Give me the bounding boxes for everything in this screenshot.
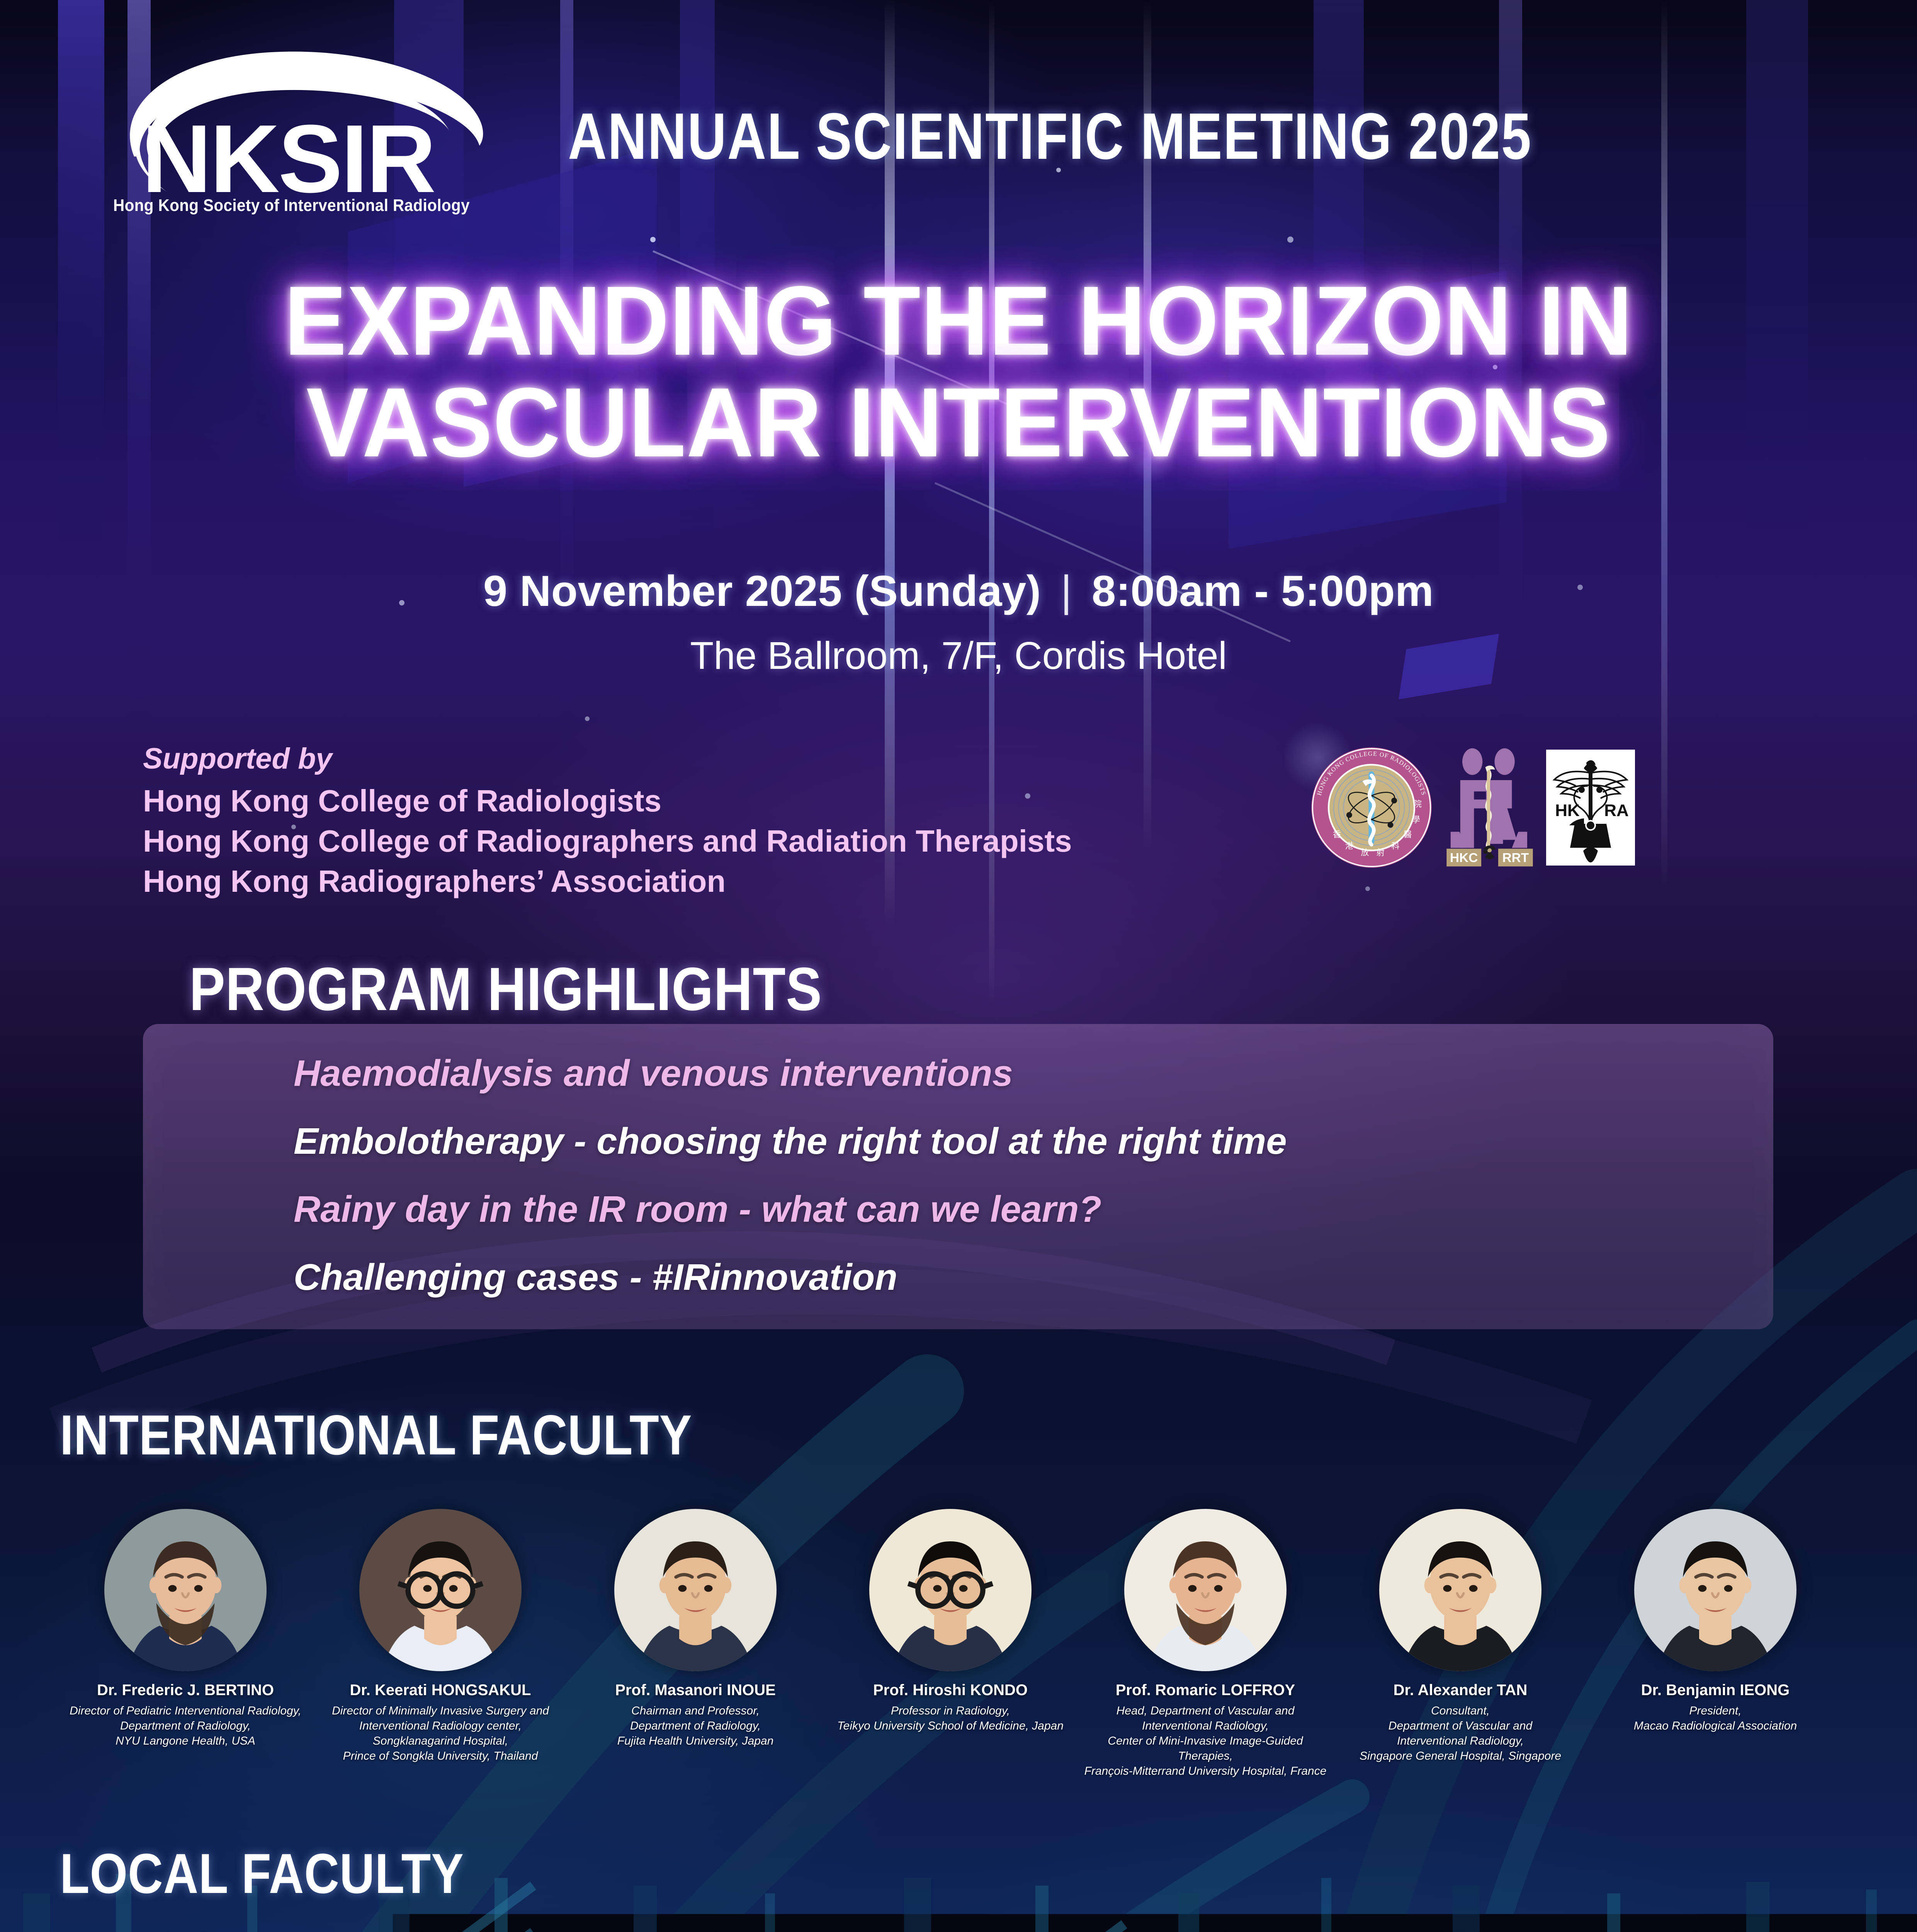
faculty-card: Dr. Benjamin IEONGPresident,Macao Radiol… — [1588, 1509, 1843, 1779]
faculty-card: Prof. Hiroshi KONDOProfessor in Radiolog… — [823, 1509, 1078, 1779]
svg-text:RA: RA — [1604, 801, 1629, 820]
faculty-card: Prof. Romaric LOFFROYHead, Department of… — [1078, 1509, 1333, 1779]
program-highlight-item: Challenging cases - #IRinnovation — [294, 1259, 1800, 1296]
faculty-affiliation-line: François-Mitterrand University Hospital,… — [1082, 1764, 1329, 1779]
faculty-name: Dr. Alexander TAN — [1394, 1682, 1528, 1699]
poster-header: NKSIR Hong Kong Society of Interventiona… — [0, 0, 1917, 247]
svg-text:院: 院 — [1414, 799, 1422, 809]
event-datetime: 9 November 2025 (Sunday) | 8:00am - 5:00… — [0, 566, 1917, 616]
datetime-separator: | — [1053, 566, 1079, 616]
faculty-affiliation-line: Interventional Radiology, — [1337, 1733, 1584, 1748]
faculty-card: Prof. Masanori INOUEChairman and Profess… — [568, 1509, 823, 1779]
faculty-affiliation-line: Singapore General Hospital, Singapore — [1337, 1748, 1584, 1764]
conference-poster: NKSIR Hong Kong Society of Interventiona… — [0, 0, 1917, 1932]
supporter-org-3: Hong Kong Radiographers’ Association — [143, 861, 1072, 901]
meeting-title: ANNUAL SCIENTIFIC MEETING 2025 — [568, 99, 1532, 174]
faculty-affiliation-line: Department of Vascular and — [1337, 1718, 1584, 1733]
supported-by-block: Supported by Hong Kong College of Radiol… — [143, 742, 1072, 901]
faculty-portrait — [1379, 1509, 1541, 1671]
faculty-portrait — [104, 1509, 267, 1671]
faculty-name: Prof. Masanori INOUE — [615, 1682, 776, 1699]
faculty-affiliation-line: Center of Mini-Invasive Image-Guided The… — [1082, 1733, 1329, 1764]
supporter-logos: HONG KONG COLLEGE OF RADIOLOGISTS 香 港 放 … — [1310, 746, 1635, 869]
program-highlights-list: Haemodialysis and venous interventions E… — [294, 1055, 1800, 1327]
faculty-affiliation-line: Director of Minimally Invasive Surgery a… — [317, 1703, 564, 1718]
svg-text:學: 學 — [1412, 815, 1420, 825]
faculty-name: Dr. Keerati HONGSAKUL — [350, 1682, 531, 1699]
faculty-affiliation-line: Head, Department of Vascular and — [1082, 1703, 1329, 1718]
faculty-affiliation-line: Consultant, — [1337, 1703, 1584, 1718]
svg-text:HK: HK — [1555, 801, 1580, 820]
faculty-affiliation: Consultant,Department of Vascular andInt… — [1337, 1703, 1584, 1764]
title-line-2: VASCULAR INTERVENTIONS — [48, 372, 1869, 474]
title-line-1: EXPANDING THE HORIZON IN — [48, 270, 1869, 372]
faculty-portrait — [359, 1509, 522, 1671]
hkcr-seal-logo: HONG KONG COLLEGE OF RADIOLOGISTS 香 港 放 … — [1310, 746, 1433, 869]
event-date: 9 November 2025 (Sunday) — [483, 567, 1041, 615]
faculty-affiliation-line: Interventional Radiology, — [1082, 1718, 1329, 1733]
faculty-affiliation: Chairman and Professor,Department of Rad… — [572, 1703, 819, 1748]
faculty-affiliation: Professor in Radiology,Teikyo University… — [827, 1703, 1074, 1733]
faculty-affiliation: Head, Department of Vascular andInterven… — [1082, 1703, 1329, 1779]
faculty-affiliation: Director of Minimally Invasive Surgery a… — [317, 1703, 564, 1764]
faculty-portrait — [614, 1509, 777, 1671]
faculty-card: Dr. Alexander TANConsultant,Department o… — [1333, 1509, 1588, 1779]
svg-text:射: 射 — [1377, 848, 1385, 858]
international-faculty-row: Dr. Frederic J. BERTINODirector of Pedia… — [58, 1509, 1874, 1779]
program-highlight-item: Embolotherapy - choosing the right tool … — [294, 1123, 1800, 1160]
faculty-affiliation-line: Chairman and Professor, — [572, 1703, 819, 1718]
faculty-name: Prof. Hiroshi KONDO — [873, 1682, 1028, 1699]
event-venue: The Ballroom, 7/F, Cordis Hotel — [0, 634, 1917, 678]
faculty-portrait — [869, 1509, 1032, 1671]
svg-text:放: 放 — [1361, 848, 1369, 858]
faculty-affiliation: Director of Pediatric Interventional Rad… — [62, 1703, 309, 1748]
faculty-affiliation-line: President, — [1592, 1703, 1839, 1718]
faculty-affiliation-line: Department of Radiology, — [572, 1718, 819, 1733]
faculty-portrait — [1124, 1509, 1286, 1671]
supported-by-label: Supported by — [143, 742, 1072, 776]
svg-text:醫: 醫 — [1404, 830, 1412, 840]
faculty-affiliation-line: Teikyo University School of Medicine, Ja… — [827, 1718, 1074, 1733]
supporter-org-1: Hong Kong College of Radiologists — [143, 781, 1072, 821]
program-highlights-heading: PROGRAM HIGHLIGHTS — [189, 954, 822, 1024]
hksir-logo-subtitle: Hong Kong Society of Interventional Radi… — [113, 196, 501, 215]
faculty-affiliation-line: Department of Radiology, — [62, 1718, 309, 1733]
faculty-affiliation-line: Fujita Health University, Japan — [572, 1733, 819, 1748]
faculty-affiliation-line: Macao Radiological Association — [1592, 1718, 1839, 1733]
faculty-affiliation: President,Macao Radiological Association — [1592, 1703, 1839, 1733]
faculty-affiliation-line: Professor in Radiology, — [827, 1703, 1074, 1718]
svg-text:科: 科 — [1391, 842, 1399, 851]
faculty-affiliation-line: Songklanagarind Hospital, — [317, 1733, 564, 1748]
hksir-logo: NKSIR Hong Kong Society of Interventiona… — [99, 41, 535, 215]
svg-text:NKSIR: NKSIR — [142, 105, 435, 203]
svg-text:香: 香 — [1333, 830, 1341, 840]
faculty-portrait — [1634, 1509, 1796, 1671]
faculty-affiliation-line: Prince of Songkla University, Thailand — [317, 1748, 564, 1764]
program-highlight-item: Rainy day in the IR room - what can we l… — [294, 1191, 1800, 1228]
supporter-org-2: Hong Kong College of Radiographers and R… — [143, 821, 1072, 861]
svg-text:HKC: HKC — [1450, 851, 1478, 865]
faculty-card: Dr. Keerati HONGSAKULDirector of Minimal… — [313, 1509, 568, 1779]
faculty-card: Dr. Frederic J. BERTINODirector of Pedia… — [58, 1509, 313, 1779]
svg-text:RRT: RRT — [1502, 851, 1529, 865]
page-title: EXPANDING THE HORIZON IN VASCULAR INTERV… — [48, 270, 1869, 473]
faculty-affiliation-line: Director of Pediatric Interventional Rad… — [62, 1703, 309, 1718]
hkcrrt-logo: HKC RRT — [1443, 746, 1536, 869]
program-highlight-item: Haemodialysis and venous interventions — [294, 1055, 1800, 1092]
faculty-affiliation-line: Interventional Radiology center, — [317, 1718, 564, 1733]
svg-text:港: 港 — [1345, 842, 1353, 851]
local-faculty-heading: LOCAL FACULTY — [60, 1841, 464, 1906]
hkra-logo: HK RA — [1546, 746, 1635, 869]
event-time: 8:00am - 5:00pm — [1092, 567, 1434, 615]
faculty-name: Dr. Frederic J. BERTINO — [97, 1682, 274, 1699]
international-faculty-heading: INTERNATIONAL FACULTY — [60, 1403, 692, 1468]
hksir-logo-mark: NKSIR — [99, 41, 500, 203]
faculty-name: Prof. Romaric LOFFROY — [1116, 1682, 1295, 1699]
faculty-name: Dr. Benjamin IEONG — [1641, 1682, 1790, 1699]
faculty-affiliation-line: NYU Langone Health, USA — [62, 1733, 309, 1748]
